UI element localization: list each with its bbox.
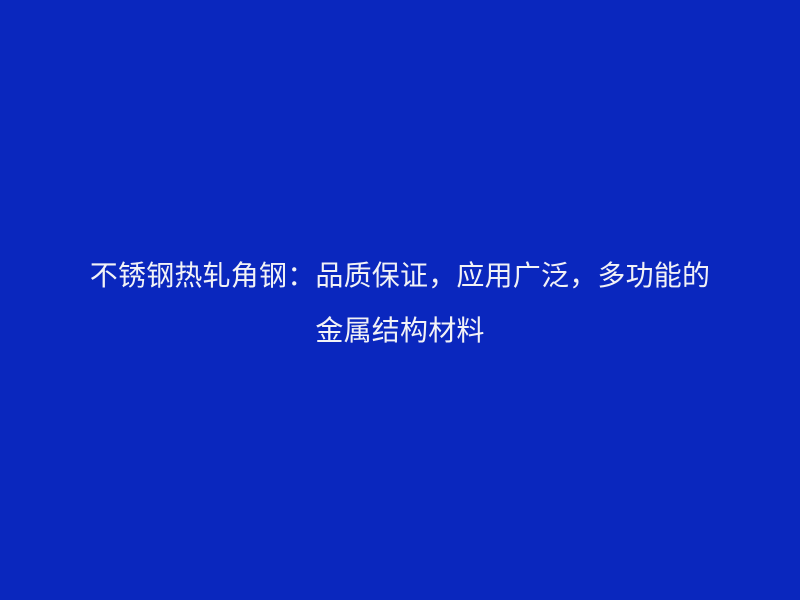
title-line-1: 不锈钢热轧角钢：品质保证，应用广泛，多功能的 xyxy=(0,248,800,303)
banner-background: 不锈钢热轧角钢：品质保证，应用广泛，多功能的 金属结构材料 xyxy=(0,0,800,600)
page-title: 不锈钢热轧角钢：品质保证，应用广泛，多功能的 金属结构材料 xyxy=(0,0,800,358)
title-line-2: 金属结构材料 xyxy=(0,303,800,358)
